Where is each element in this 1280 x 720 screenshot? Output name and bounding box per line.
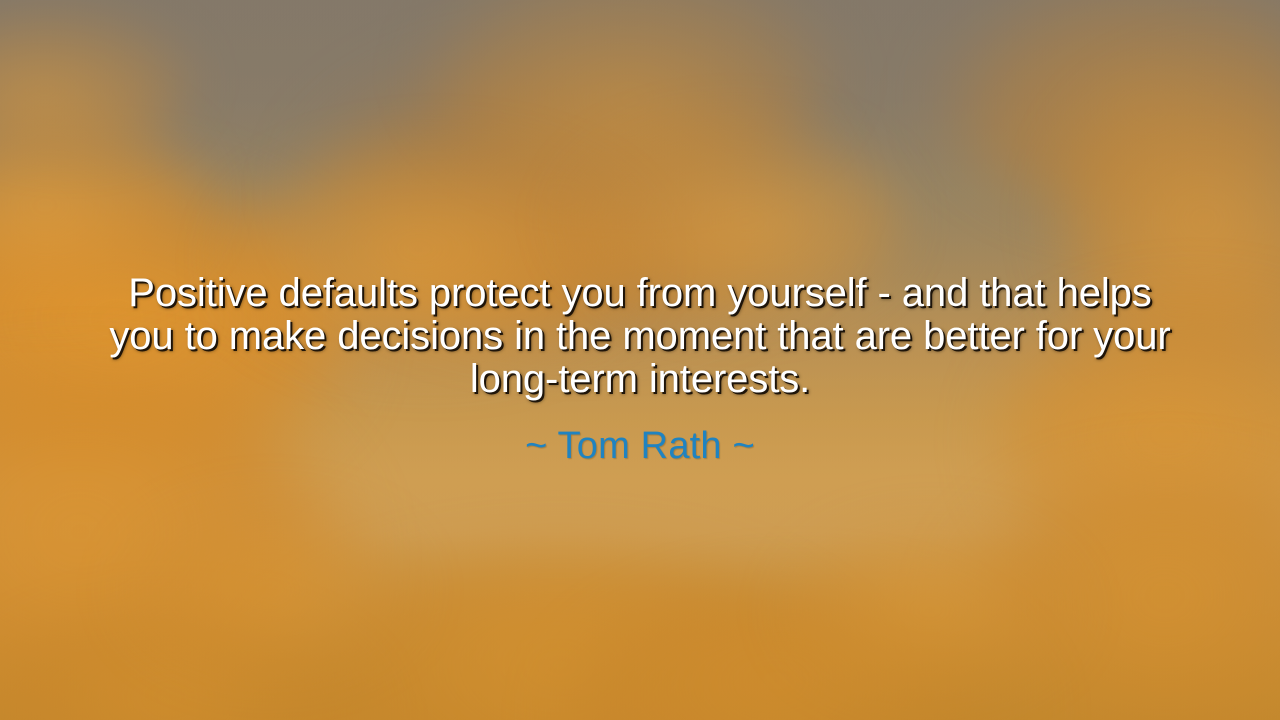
cloud-lower-right-haze: [780, 520, 1080, 700]
quote-image-canvas: Positive defaults protect you from yours…: [0, 0, 1280, 720]
quote-author: ~ Tom Rath ~: [70, 401, 1210, 468]
cloud-lower-left-haze: [120, 500, 420, 680]
quote-text: Positive defaults protect you from yours…: [70, 272, 1210, 401]
quote-block: Positive defaults protect you from yours…: [0, 272, 1280, 468]
